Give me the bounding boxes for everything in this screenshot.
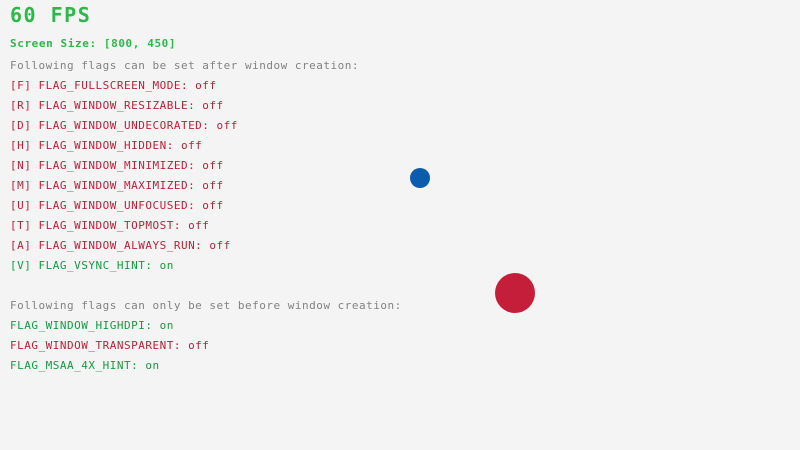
flag-line-flag-window-resizable[interactable]: [R] FLAG_WINDOW_RESIZABLE: off	[10, 100, 224, 111]
flag-line-flag-msaa-4x-hint: FLAG_MSAA_4X_HINT: on	[10, 360, 160, 371]
flag-line-flag-window-unfocused[interactable]: [U] FLAG_WINDOW_UNFOCUSED: off	[10, 200, 224, 211]
creation-flags-heading: Following flags can only be set before w…	[10, 300, 402, 311]
blue-ball	[410, 168, 430, 188]
red-ball	[495, 273, 535, 313]
flag-line-flag-window-transparent: FLAG_WINDOW_TRANSPARENT: off	[10, 340, 209, 351]
flag-line-flag-window-always-run[interactable]: [A] FLAG_WINDOW_ALWAYS_RUN: off	[10, 240, 231, 251]
fps-counter: 60 FPS	[10, 5, 91, 25]
flag-line-flag-window-undecorated[interactable]: [D] FLAG_WINDOW_UNDECORATED: off	[10, 120, 238, 131]
runtime-flags-heading: Following flags can be set after window …	[10, 60, 359, 71]
flag-line-flag-fullscreen-mode[interactable]: [F] FLAG_FULLSCREEN_MODE: off	[10, 80, 217, 91]
flag-line-flag-window-minimized[interactable]: [N] FLAG_WINDOW_MINIMIZED: off	[10, 160, 224, 171]
flag-line-flag-vsync-hint[interactable]: [V] FLAG_VSYNC_HINT: on	[10, 260, 174, 271]
screen-size-label: Screen Size: [800, 450]	[10, 38, 176, 49]
raylib-window-canvas[interactable]: 60 FPS Screen Size: [800, 450] Following…	[0, 0, 800, 450]
flag-line-flag-window-topmost[interactable]: [T] FLAG_WINDOW_TOPMOST: off	[10, 220, 209, 231]
flag-line-flag-window-highdpi: FLAG_WINDOW_HIGHDPI: on	[10, 320, 174, 331]
flag-line-flag-window-hidden[interactable]: [H] FLAG_WINDOW_HIDDEN: off	[10, 140, 202, 151]
flag-line-flag-window-maximized[interactable]: [M] FLAG_WINDOW_MAXIMIZED: off	[10, 180, 224, 191]
